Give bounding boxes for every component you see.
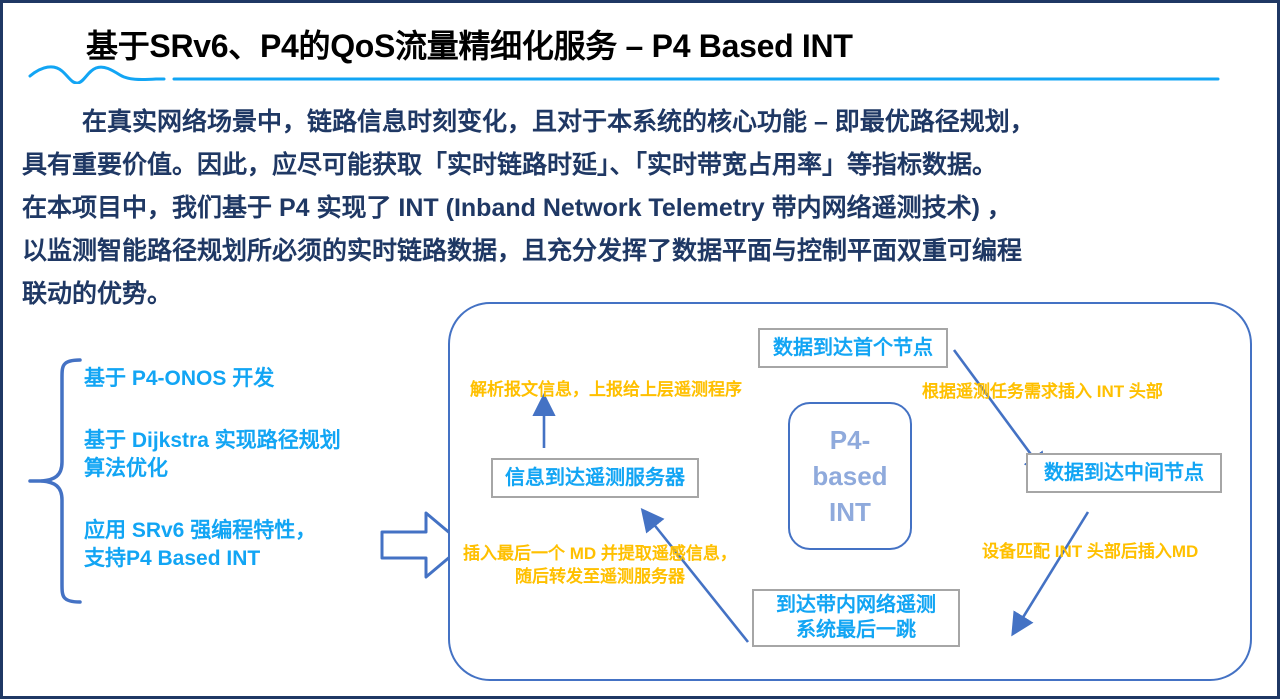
bullet-item-dijkstra-line1: 基于 Dijkstra 实现路径规划 (84, 427, 424, 455)
node-arrives-int-last-hop-line1: 到达带内网络遥测 (776, 593, 936, 618)
center-node-line2: based (812, 458, 887, 494)
body-line-4: 以监测智能路径规划所必须的实时链路数据，且充分发挥了数据平面与控制平面双重可编程 (22, 230, 1276, 273)
node-arrives-int-last-hop[interactable]: 到达带内网络遥测 系统最后一跳 (752, 589, 960, 647)
body-line-3: 在本项目中，我们基于 P4 实现了 INT (Inband Network Te… (22, 187, 1276, 230)
bullet-item-p4-onos-label: 基于 P4-ONOS 开发 (84, 365, 424, 393)
frame-left-border (0, 0, 3, 699)
node-arrives-int-last-hop-line2: 系统最后一跳 (776, 618, 936, 643)
title-underline-squiggle-icon (28, 58, 1220, 84)
left-brace-icon (28, 356, 88, 606)
bullet-item-srv6-line1: 应用 SRv6 强编程特性， (84, 517, 424, 545)
bullet-item-srv6: 应用 SRv6 强编程特性， 支持P4 Based INT (84, 517, 424, 573)
bullet-item-dijkstra-line2: 算法优化 (84, 455, 424, 483)
bullet-item-srv6-line2: 支持P4 Based INT (84, 545, 424, 573)
annotation-insert-int-header: 根据遥测任务需求插入 INT 头部 (922, 380, 1163, 403)
body-line-1-text: 在真实网络场景中，链路信息时刻变化，且对于本系统的核心功能 – 即最优路径规划， (82, 108, 1035, 136)
slide-canvas: 基于SRv6、P4的QoS流量精细化服务 – P4 Based INT 在真实网… (0, 0, 1280, 699)
node-data-arrives-intermediate-label: 数据到达中间节点 (1044, 461, 1204, 486)
body-line-2: 具有重要价值。因此，应尽可能获取「实时链路时延」、「实时带宽占用率」等指标数据。 (22, 144, 1276, 187)
annotation-insert-last-md: 插入最后一个 MD 并提取遥感信息， 随后转发至遥测服务器 (435, 542, 765, 588)
node-info-arrives-telemetry-server[interactable]: 信息到达遥测服务器 (491, 458, 699, 498)
annotation-insert-last-md-line1: 插入最后一个 MD 并提取遥感信息， (435, 542, 765, 565)
center-node-p4-based-int[interactable]: P4- based INT (788, 402, 912, 550)
node-data-arrives-intermediate[interactable]: 数据到达中间节点 (1026, 453, 1222, 493)
center-node-line1: P4- (812, 422, 887, 458)
bullet-item-dijkstra: 基于 Dijkstra 实现路径规划 算法优化 (84, 427, 424, 483)
body-paragraph: 在真实网络场景中，链路信息时刻变化，且对于本系统的核心功能 – 即最优路径规划，… (22, 101, 1276, 316)
feature-bullet-list: 基于 P4-ONOS 开发 基于 Dijkstra 实现路径规划 算法优化 应用… (84, 365, 424, 573)
annotation-device-match-int: 设备匹配 INT 头部后插入MD (982, 540, 1198, 563)
node-info-arrives-telemetry-server-label: 信息到达遥测服务器 (505, 466, 685, 491)
frame-top-border (0, 0, 1280, 3)
annotation-insert-last-md-line2: 随后转发至遥测服务器 (435, 565, 765, 588)
node-data-arrives-first-hop[interactable]: 数据到达首个节点 (758, 328, 948, 368)
bullet-item-p4-onos: 基于 P4-ONOS 开发 (84, 365, 424, 393)
node-data-arrives-first-hop-label: 数据到达首个节点 (773, 336, 933, 361)
center-node-line3: INT (812, 494, 887, 530)
annotation-parse-packet: 解析报文信息，上报给上层遥测程序 (470, 378, 742, 401)
body-line-1: 在真实网络场景中，链路信息时刻变化，且对于本系统的核心功能 – 即最优路径规划， (22, 101, 1276, 144)
